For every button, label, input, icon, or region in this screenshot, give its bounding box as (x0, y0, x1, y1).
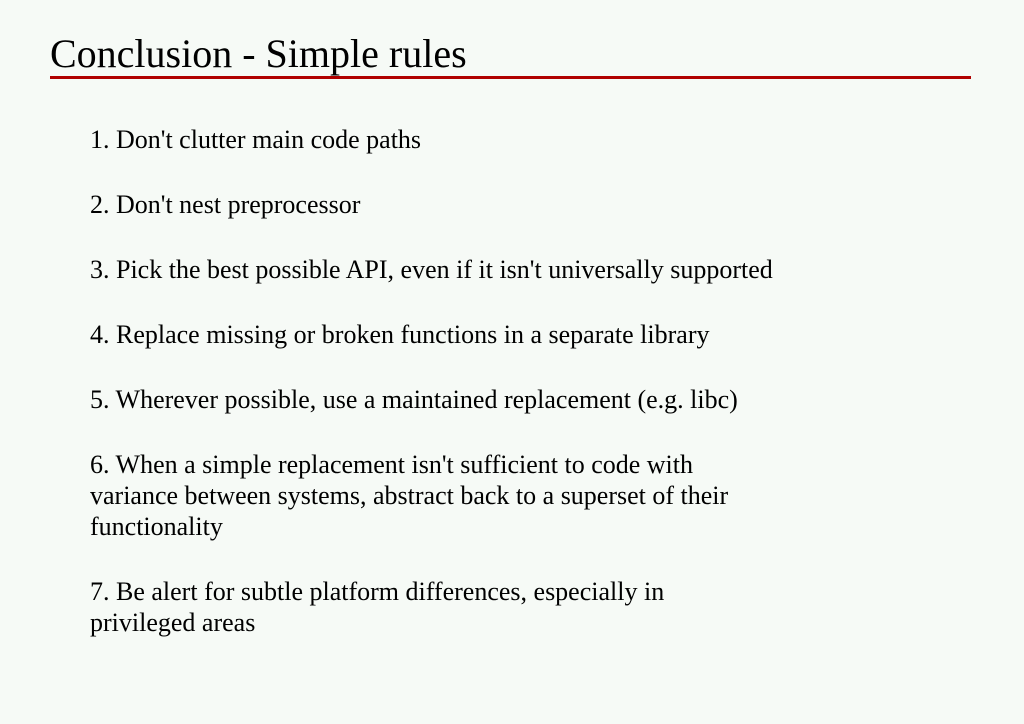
presentation-slide: Conclusion - Simple rules 1. Don't clutt… (0, 0, 1024, 724)
list-item: 3. Pick the best possible API, even if i… (90, 254, 970, 285)
list-item: 1. Don't clutter main code paths (90, 124, 970, 155)
list-item: 4. Replace missing or broken functions i… (90, 319, 970, 350)
list-item: 2. Don't nest preprocessor (90, 189, 970, 220)
list-item: 5. Wherever possible, use a maintained r… (90, 384, 970, 415)
rules-list: 1. Don't clutter main code paths 2. Don'… (90, 124, 970, 638)
list-item: 7. Be alert for subtle platform differen… (90, 576, 970, 638)
page-title: Conclusion - Simple rules (50, 30, 467, 78)
title-divider (50, 76, 971, 79)
list-item: 6. When a simple replacement isn't suffi… (90, 449, 970, 542)
